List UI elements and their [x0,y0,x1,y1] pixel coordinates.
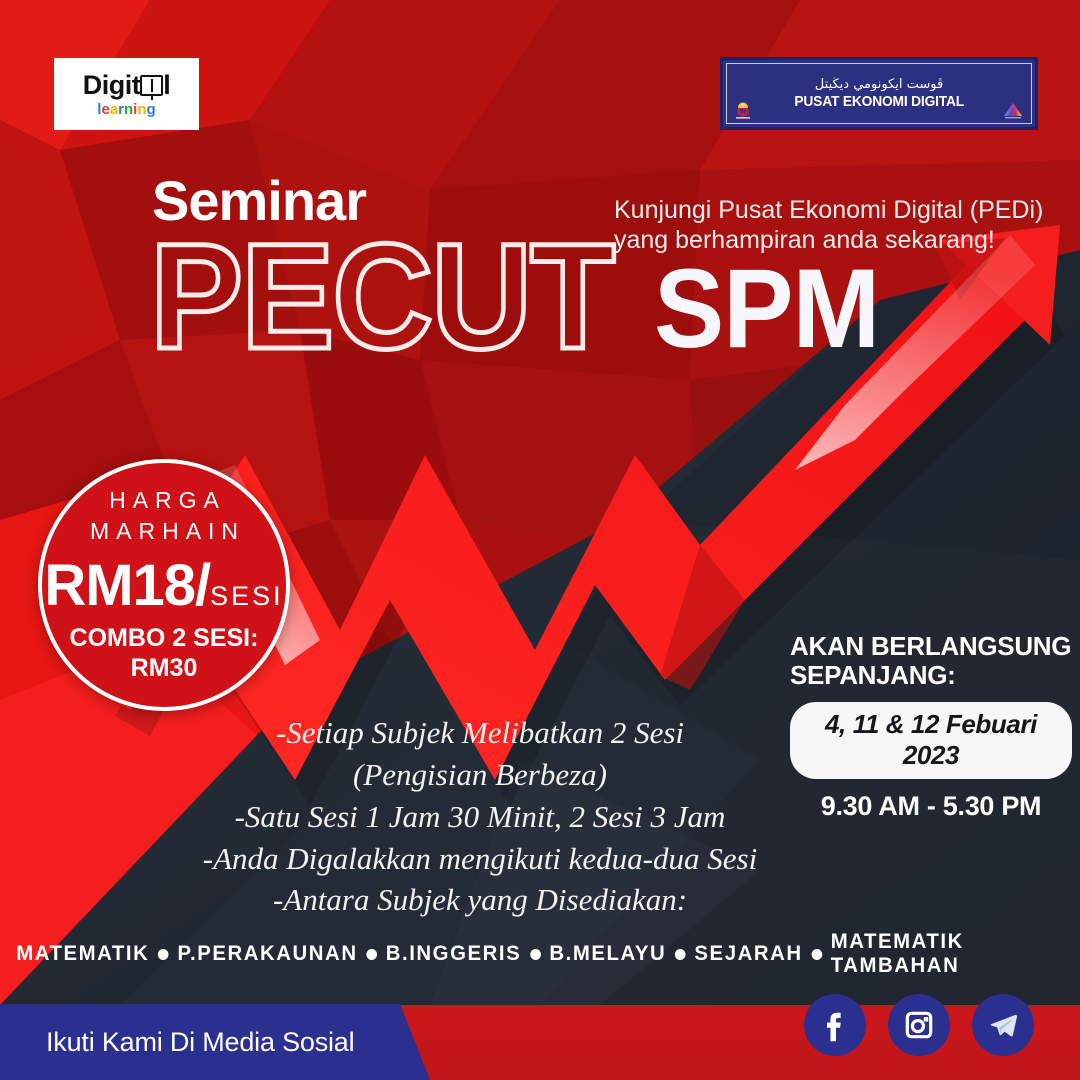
social-icon-group [804,994,1034,1056]
logo-wordmark: Digit l [83,72,171,99]
bullet-dot-icon [530,949,541,960]
social-banner: Ikuti Kami Di Media Sosial [0,1004,430,1080]
bullet-dot-icon [675,949,686,960]
digital-learning-logo: Digit l learning [54,58,199,130]
telegram-icon[interactable] [972,994,1034,1056]
subject-item: MATEMATIK [16,942,149,966]
social-banner-label: Ikuti Kami Di Media Sosial [46,1027,354,1058]
subject-item: SEJARAH [694,942,802,966]
tagline-text: Kunjungi Pusat Ekonomi Digital (PEDi) ya… [614,196,1080,255]
logo-letter: n [124,101,133,118]
logo-word-part-b: l [163,72,170,99]
pedi-name-text: PUSAT EKONOMI DIGITAL [794,93,964,110]
schedule-dates-pill: 4, 11 & 12 Febuari 2023 [790,702,1072,779]
mcmc-triangle-icon [1003,101,1023,119]
subject-item: MATEMATIK TAMBAHAN [831,930,1064,978]
detail-line: -Satu Sesi 1 Jam 30 Minit, 2 Sesi 3 Jam [150,796,810,838]
logo-subword: learning [97,102,155,117]
logo-word-part-a: Digit [83,72,141,99]
price-badge: HARGA MARHAIN RM18/ SESI COMBO 2 SESI: R… [38,459,290,711]
price-combo-amount: RM30 [131,653,198,684]
facebook-icon[interactable] [804,994,866,1056]
detail-list: -Setiap Subjek Melibatkan 2 Sesi (Pengis… [150,712,810,921]
bullet-dot-icon [811,949,822,960]
logo-letter: a [110,101,118,118]
price-amount: RM18/ [44,552,210,619]
pedi-badge: ڤوست ايكونومي ديڬيتل PUSAT EKONOMI DIGIT… [720,57,1038,130]
whiteboard-icon [140,75,163,96]
price-main-row: RM18/ SESI [44,552,283,619]
schedule-block: AKAN BERLANGSUNG SEPANJANG: 4, 11 & 12 F… [790,632,1072,822]
logo-letter: n [137,101,146,118]
logo-letter: e [101,101,109,118]
subject-list: MATEMATIK P.PERAKAUNAN B.INGGERIS B.MELA… [16,930,1064,978]
price-combo-label: COMBO 2 SESI: [70,623,259,653]
schedule-heading: AKAN BERLANGSUNG SEPANJANG: [790,632,1072,690]
malaysia-coat-of-arms-icon [735,101,751,119]
schedule-time: 9.30 AM - 5.30 PM [790,791,1072,822]
detail-line: -Anda Digalakkan mengikuti kedua-dua Ses… [150,838,810,880]
bullet-dot-icon [158,949,169,960]
price-label-line2: MARHAIN [83,516,245,547]
subject-item: P.PERAKAUNAN [177,942,357,966]
subject-item: B.MELAYU [549,942,666,966]
logo-letter: g [147,101,156,118]
title-pecut: PECUT [150,238,613,355]
bullet-dot-icon [366,949,377,960]
title-spm: SPM [654,263,879,355]
detail-line: -Antara Subjek yang Disediakan: [150,879,810,921]
poster-canvas: Digit l learning ڤوست ايكونومي ديڬيتل PU… [0,0,1080,1080]
instagram-icon[interactable] [888,994,950,1056]
pedi-badge-frame: ڤوست ايكونومي ديڬيتل PUSAT EKONOMI DIGIT… [726,63,1032,124]
headline-row: PECUT SPM [150,238,894,355]
price-unit: SESI [210,581,284,612]
detail-line: (Pengisian Berbeza) [150,754,810,796]
price-label-line1: HARGA [102,485,226,516]
subject-item: B.INGGERIS [386,942,521,966]
detail-line: -Setiap Subjek Melibatkan 2 Sesi [150,712,810,754]
pedi-jawi-text: ڤوست ايكونومي ديڬيتل [815,77,943,92]
